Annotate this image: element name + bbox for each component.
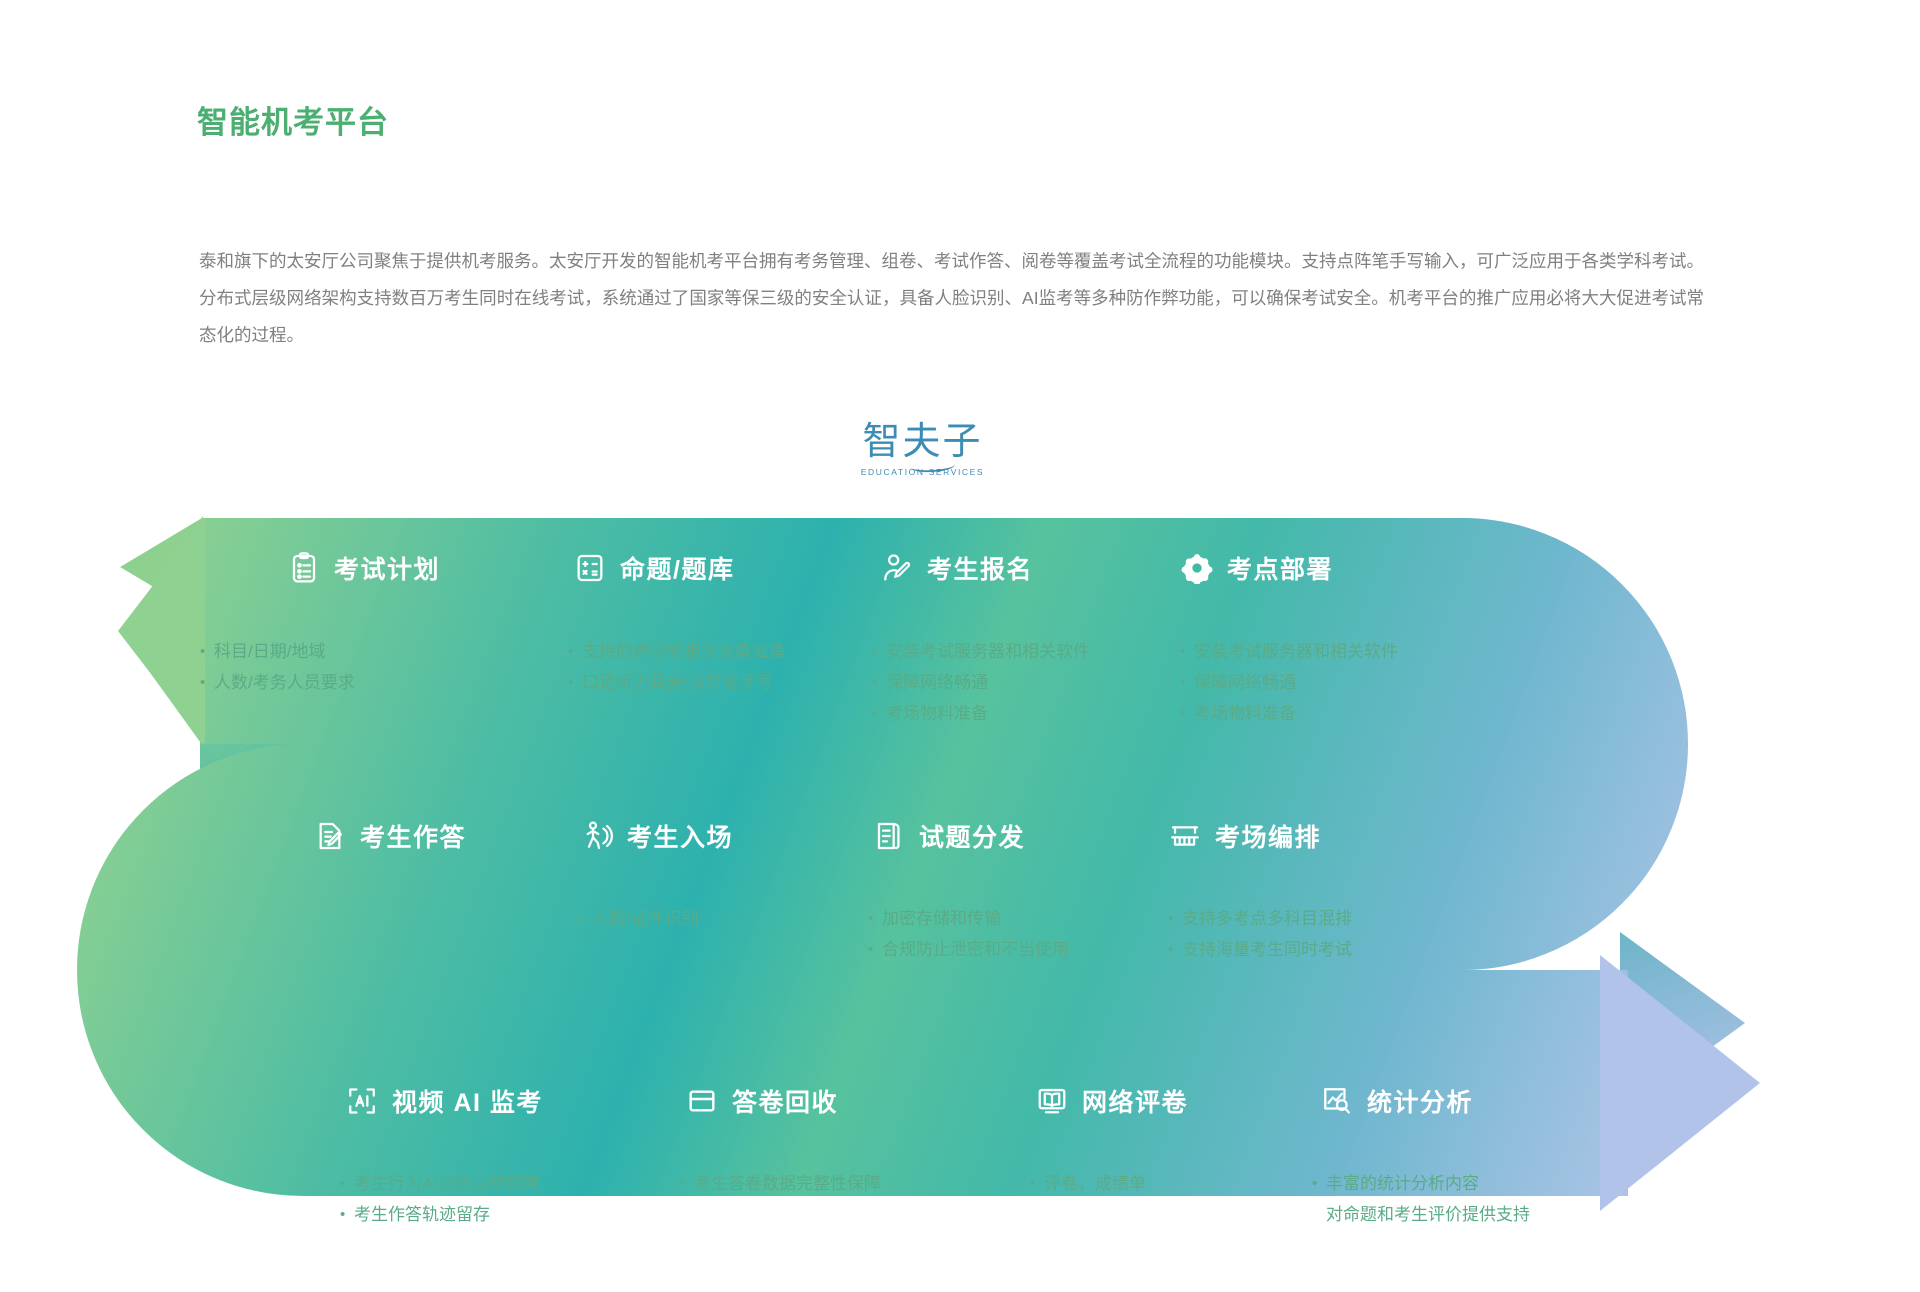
step-header-item-bank[interactable]: 命题/题库 xyxy=(573,520,734,616)
list-item: 口语听力耳麦/点阵笔手写 xyxy=(568,667,786,698)
monitor-book-icon xyxy=(1035,1084,1069,1118)
step-header-paper-collection[interactable]: 答卷回收 xyxy=(685,1053,838,1149)
list-item: 人数/考务人员要求 xyxy=(200,667,355,698)
list-item: 考生行为AI分析自动预警 xyxy=(340,1168,540,1199)
inbox-tray-icon xyxy=(685,1084,719,1118)
step-header-paper-distribution[interactable]: 试题分发 xyxy=(872,788,1025,884)
step-header-online-marking[interactable]: 网络评卷 xyxy=(1035,1053,1188,1149)
intro-paragraph: 泰和旗下的太安厅公司聚焦于提供机考服务。太安厅开发的智能机考平台拥有考务管理、组… xyxy=(199,243,1704,354)
bullets-site-deploy: 安装考试服务器和相关软件 保障网络畅通 考场物料准备 xyxy=(1180,636,1398,729)
list-item: 支持多考点多科目混排 xyxy=(1168,903,1352,934)
bullets-registration: 安装考试服务器和相关软件 保障网络畅通 考场物料准备 xyxy=(872,636,1090,729)
step-header-ai-proctoring[interactable]: 视频 AI 监考 xyxy=(345,1053,543,1149)
step-label: 考生作答 xyxy=(360,818,466,854)
step-label: 网络评卷 xyxy=(1082,1083,1188,1119)
bullets-item-bank: 支持的题型和相关设备准备 口语听力耳麦/点阵笔手写 xyxy=(568,636,786,698)
list-item-continuation: 对命题和考生评价提供支持 xyxy=(1312,1199,1530,1230)
list-item: 考场物料准备 xyxy=(1180,698,1398,729)
step-header-statistics[interactable]: 统计分析 xyxy=(1320,1053,1473,1149)
bullets-paper-collection: 考生答卷数据完整性保障 xyxy=(680,1168,881,1199)
list-item: 考生答卷数据完整性保障 xyxy=(680,1168,881,1199)
ai-bracket-icon xyxy=(345,1084,379,1118)
flow-row-3: 视频 AI 监考 答卷回收 网络评卷 xyxy=(0,1053,1920,1149)
bullets-online-marking: 评卷，成绩单 xyxy=(1030,1168,1146,1199)
clipboard-checklist-icon xyxy=(287,551,321,585)
document-edit-icon xyxy=(313,819,347,853)
person-edit-icon xyxy=(880,551,914,585)
step-header-exam-plan[interactable]: 考试计划 xyxy=(287,520,440,616)
flow-row-1: 考试计划 命题/题库 考生报名 xyxy=(0,520,1920,616)
step-label: 答卷回收 xyxy=(732,1083,838,1119)
bullets-room-arrangement: 支持多考点多科目混排 支持海量考生同时考试 xyxy=(1168,903,1352,965)
brand-logo: 智夫子 EDUCATION SERVICES xyxy=(855,420,990,477)
exam-paper-icon xyxy=(872,819,906,853)
list-item: 科目/日期/地域 xyxy=(200,636,355,667)
step-label: 视频 AI 监考 xyxy=(392,1083,543,1119)
infographic-page: 智能机考平台 泰和旗下的太安厅公司聚焦于提供机考服务。太安厅开发的智能机考平台拥… xyxy=(0,0,1920,1292)
step-label: 考生入场 xyxy=(627,818,733,854)
flow-row-2: 考生作答 考生入场 试题分发 xyxy=(0,788,1920,884)
seating-layout-icon xyxy=(1168,819,1202,853)
step-label: 考试计划 xyxy=(334,550,440,586)
page-title: 智能机考平台 xyxy=(197,97,389,142)
list-item: 加密存储和传输 xyxy=(868,903,1069,934)
list-item: 支持海量考生同时考试 xyxy=(1168,934,1352,965)
step-label: 试题分发 xyxy=(919,818,1025,854)
step-header-site-deploy[interactable]: 考点部署 xyxy=(1180,520,1333,616)
list-item: 保障网络畅通 xyxy=(872,667,1090,698)
step-label: 考场编排 xyxy=(1215,818,1321,854)
step-label: 统计分析 xyxy=(1367,1083,1473,1119)
list-item: 考生作答轨迹留存 xyxy=(340,1199,540,1230)
step-header-room-arrangement[interactable]: 考场编排 xyxy=(1168,788,1321,884)
gear-icon xyxy=(1180,551,1214,585)
list-item: 合规防止泄密和不当使用 xyxy=(868,934,1069,965)
chart-magnifier-icon xyxy=(1320,1084,1354,1118)
list-item: 人脸/证件识别 xyxy=(578,903,699,934)
bullets-exam-plan: 科目/日期/地域 人数/考务人员要求 xyxy=(200,636,355,698)
step-header-registration[interactable]: 考生报名 xyxy=(880,520,1033,616)
step-label: 考生报名 xyxy=(927,550,1033,586)
step-header-entry[interactable]: 考生入场 xyxy=(580,788,733,884)
list-item: 安装考试服务器和相关软件 xyxy=(872,636,1090,667)
step-label: 命题/题库 xyxy=(620,550,734,586)
bullets-entry: 人脸/证件识别 xyxy=(578,903,699,934)
list-item: 安装考试服务器和相关软件 xyxy=(1180,636,1398,667)
calculator-icon xyxy=(573,551,607,585)
bullets-statistics: 丰富的统计分析内容 对命题和考生评价提供支持 xyxy=(1312,1168,1530,1230)
list-item: 丰富的统计分析内容 xyxy=(1312,1168,1530,1199)
list-item: 支持的题型和相关设备准备 xyxy=(568,636,786,667)
bullets-paper-distribution: 加密存储和传输 合规防止泄密和不当使用 xyxy=(868,903,1069,965)
walking-person-icon xyxy=(580,819,614,853)
list-item: 保障网络畅通 xyxy=(1180,667,1398,698)
step-label: 考点部署 xyxy=(1227,550,1333,586)
step-header-answering[interactable]: 考生作答 xyxy=(313,788,466,884)
list-item: 考场物料准备 xyxy=(872,698,1090,729)
bullets-ai-proctoring: 考生行为AI分析自动预警 考生作答轨迹留存 xyxy=(340,1168,540,1230)
logo-wordmark: 智夫子 xyxy=(855,420,990,464)
list-item: 评卷，成绩单 xyxy=(1030,1168,1146,1199)
